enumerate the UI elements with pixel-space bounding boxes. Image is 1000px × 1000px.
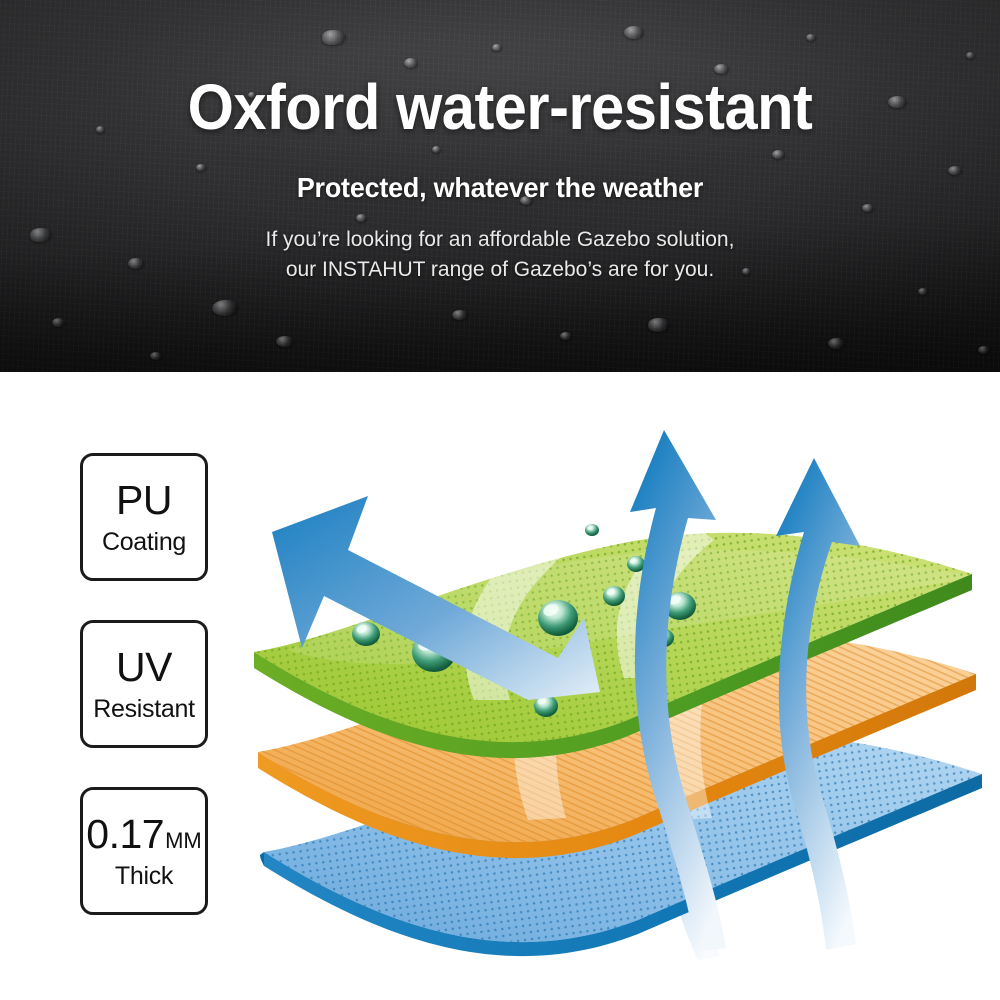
badge-main-text: PU xyxy=(116,480,172,521)
badge-main-text: 0.17MM xyxy=(86,814,201,855)
product-feature-infographic: Oxford water-resistant Protected, whatev… xyxy=(0,0,1000,1000)
badge-unit-text: MM xyxy=(165,830,202,852)
droplet xyxy=(352,622,380,646)
hero-subtitle: Protected, whatever the weather xyxy=(20,172,980,204)
hero-body-line-2: our INSTAHUT range of Gazebo’s are for y… xyxy=(0,258,1000,282)
hero-banner: Oxford water-resistant Protected, whatev… xyxy=(0,0,1000,372)
badge-pu-coating: PU Coating xyxy=(80,453,208,581)
hero-title: Oxford water-resistant xyxy=(35,74,965,141)
badge-sub-text: Resistant xyxy=(93,697,195,722)
droplet xyxy=(603,586,625,606)
droplet xyxy=(627,556,645,572)
hero-body-line-1: If you’re looking for an affordable Gaze… xyxy=(0,228,1000,252)
droplet xyxy=(538,600,578,636)
badge-main-text: UV xyxy=(116,647,172,688)
badge-sub-text: Thick xyxy=(115,864,173,889)
fabric-layers-illustration xyxy=(228,400,1000,980)
badge-thickness: 0.17MM Thick xyxy=(80,787,208,915)
badge-uv-resistant: UV Resistant xyxy=(80,620,208,748)
badge-sub-text: Coating xyxy=(102,530,186,555)
droplet xyxy=(585,524,599,536)
hero-text-block: Oxford water-resistant Protected, whatev… xyxy=(0,0,1000,372)
